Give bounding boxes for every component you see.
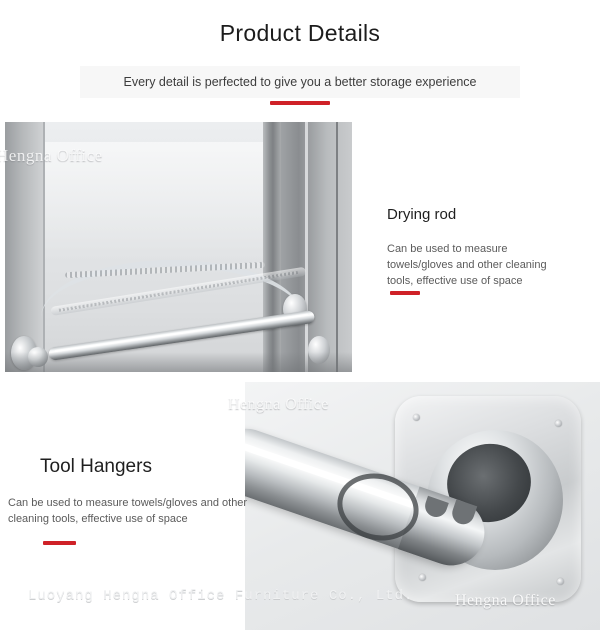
flange-screw (413, 414, 420, 421)
tool-hangers-heading: Tool Hangers (40, 456, 152, 478)
drying-rod-heading: Drying rod (387, 206, 456, 223)
drying-rod-photo (5, 122, 352, 372)
product-details-page: Product Details Every detail is perfecte… (0, 0, 600, 630)
door-gap (263, 122, 281, 372)
door-right-seam-dark (336, 122, 338, 372)
tool-hangers-description: Can be used to measure towels/gloves and… (8, 495, 258, 527)
page-subtitle: Every detail is perfected to give you a … (80, 66, 520, 98)
tool-hangers-accent-bar (43, 541, 76, 545)
flange-screw (419, 574, 426, 581)
flange-screw (557, 578, 564, 585)
door-bottom-shadow (5, 352, 352, 372)
drying-rod-accent-bar (390, 291, 420, 295)
door-right-panel (281, 122, 352, 372)
drying-rod-description: Can be used to measure towels/gloves and… (387, 241, 567, 289)
door-right-seam (305, 122, 308, 372)
title-accent-bar (270, 101, 330, 105)
flange-screw (555, 420, 562, 427)
tool-hanger-flange-photo (245, 382, 600, 630)
page-title: Product Details (0, 20, 600, 47)
